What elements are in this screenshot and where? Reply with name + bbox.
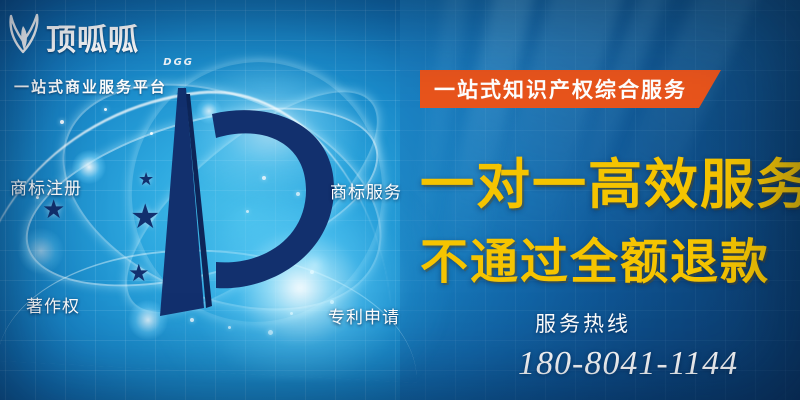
- brand-tagline: 一站式商业服务平台: [14, 76, 198, 97]
- brand-abbreviation: DGG: [8, 57, 194, 68]
- dgg-leaf-logo-icon: [8, 12, 42, 56]
- feature-label-patent-application: 专利申请: [328, 303, 400, 328]
- hotline-label: 服务热线: [535, 308, 631, 338]
- ip-monogram-graphic: [120, 80, 350, 330]
- promo-ribbon-text: 一站式知识产权综合服务: [434, 74, 687, 104]
- bokeh-light-icon: [18, 228, 64, 274]
- sparkle-icon: [60, 120, 64, 124]
- promo-headline-primary: 一对一高效服务: [420, 140, 800, 219]
- promotional-banner: ★ ★ ★ ★ 顶呱呱 DGG 一站式商业: [0, 0, 800, 400]
- sparkle-icon: [104, 108, 107, 111]
- brand-name: 顶呱呱: [46, 26, 139, 56]
- promo-ribbon: 一站式知识产权综合服务: [420, 70, 721, 108]
- promo-headline-secondary: 不通过全额退款: [420, 222, 770, 292]
- feature-label-trademark-service: 商标服务: [330, 178, 402, 203]
- star-icon: ★: [42, 196, 65, 222]
- feature-label-trademark-registration: 商标注册: [10, 174, 82, 199]
- hotline-number[interactable]: 180-8041-1144: [518, 345, 738, 383]
- brand-logo[interactable]: 顶呱呱 DGG 一站式商业服务平台: [8, 12, 198, 97]
- feature-label-copyright: 著作权: [26, 292, 80, 317]
